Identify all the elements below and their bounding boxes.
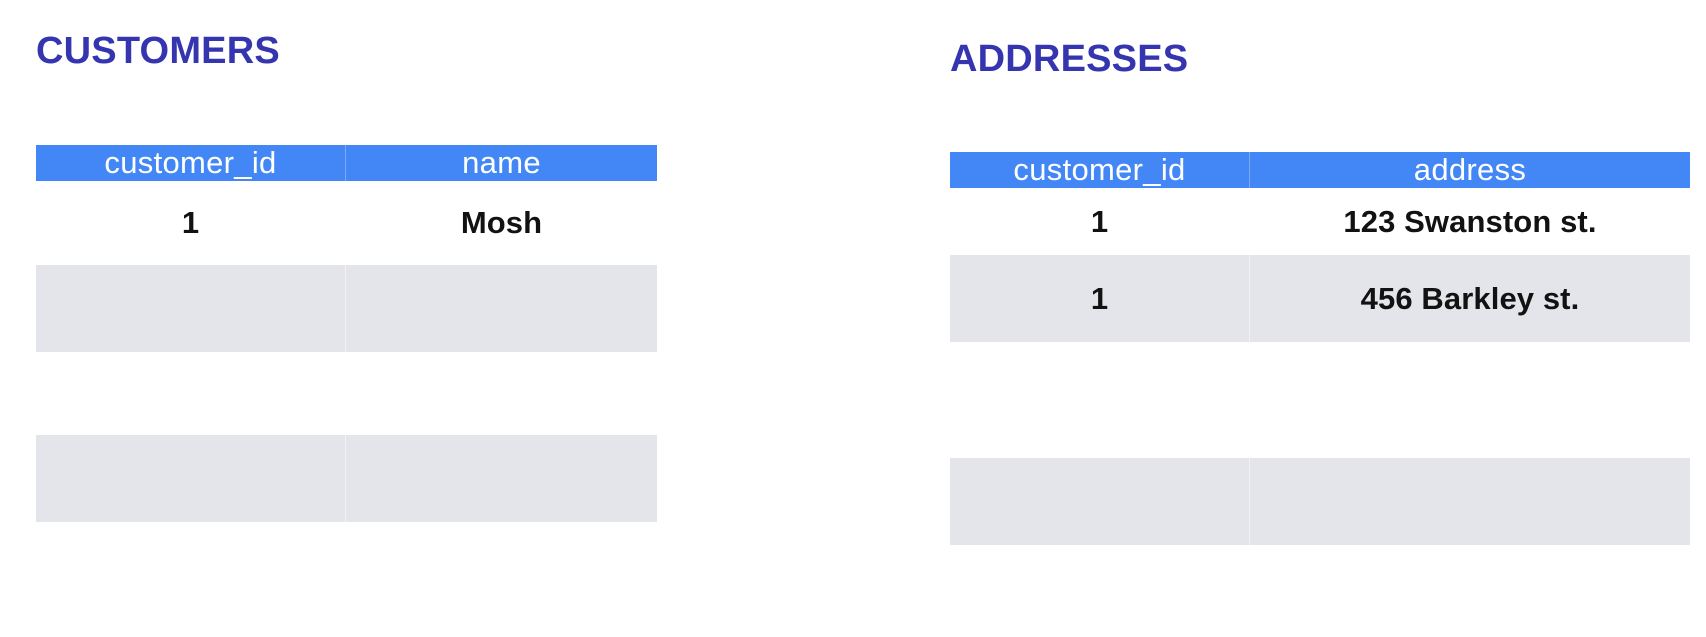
addresses-cell-address: 123 Swanston st.: [1250, 188, 1690, 255]
customers-table: customer_id name 1 Mosh: [36, 145, 657, 522]
addresses-cell-customer-id: 1: [950, 188, 1250, 255]
addresses-spacer-cell-left: [950, 342, 1250, 458]
addresses-table: customer_id address 1 123 Swanston st. 1…: [950, 152, 1690, 545]
customers-cell-customer-id: 1: [36, 181, 346, 265]
addresses-spacer-cell-right: [1250, 342, 1690, 458]
addresses-table-row-2: 1 456 Barkley st.: [950, 255, 1690, 342]
addresses-table-block: ADDRESSES customer_id address 1 123 Swan…: [950, 0, 1690, 637]
customers-cell-customer-id-empty-2: [36, 435, 346, 522]
addresses-cell-address-empty: [1250, 458, 1690, 545]
customers-table-row-spacer: [36, 352, 657, 435]
addresses-cell-customer-id-2: 1: [950, 255, 1250, 342]
customers-cell-name: Mosh: [346, 181, 657, 265]
addresses-header-row: customer_id address: [950, 152, 1690, 188]
customers-spacer-cell-right: [346, 352, 657, 435]
customers-spacer-cell-left: [36, 352, 346, 435]
customers-cell-name-empty-2: [346, 435, 657, 522]
addresses-table-row-empty: [950, 458, 1690, 545]
customers-cell-name-empty: [346, 265, 657, 352]
addresses-column-header-address: address: [1250, 152, 1690, 188]
addresses-table-row-spacer: [950, 342, 1690, 458]
diagram-canvas: CUSTOMERS customer_id name 1 Mosh: [0, 0, 1706, 637]
addresses-cell-customer-id-empty: [950, 458, 1250, 545]
customers-header-row: customer_id name: [36, 145, 657, 181]
addresses-table-row: 1 123 Swanston st.: [950, 188, 1690, 255]
customers-table-block: CUSTOMERS customer_id name 1 Mosh: [36, 0, 657, 637]
addresses-cell-address-2: 456 Barkley st.: [1250, 255, 1690, 342]
customers-table-row: 1 Mosh: [36, 181, 657, 265]
customers-table-row-empty: [36, 265, 657, 352]
customers-table-row-empty-2: [36, 435, 657, 522]
customers-column-header-name: name: [346, 145, 657, 181]
customers-table-title: CUSTOMERS: [36, 32, 280, 70]
addresses-table-title: ADDRESSES: [950, 40, 1188, 78]
customers-column-header-customer-id: customer_id: [36, 145, 346, 181]
addresses-column-header-customer-id: customer_id: [950, 152, 1250, 188]
customers-cell-customer-id-empty: [36, 265, 346, 352]
